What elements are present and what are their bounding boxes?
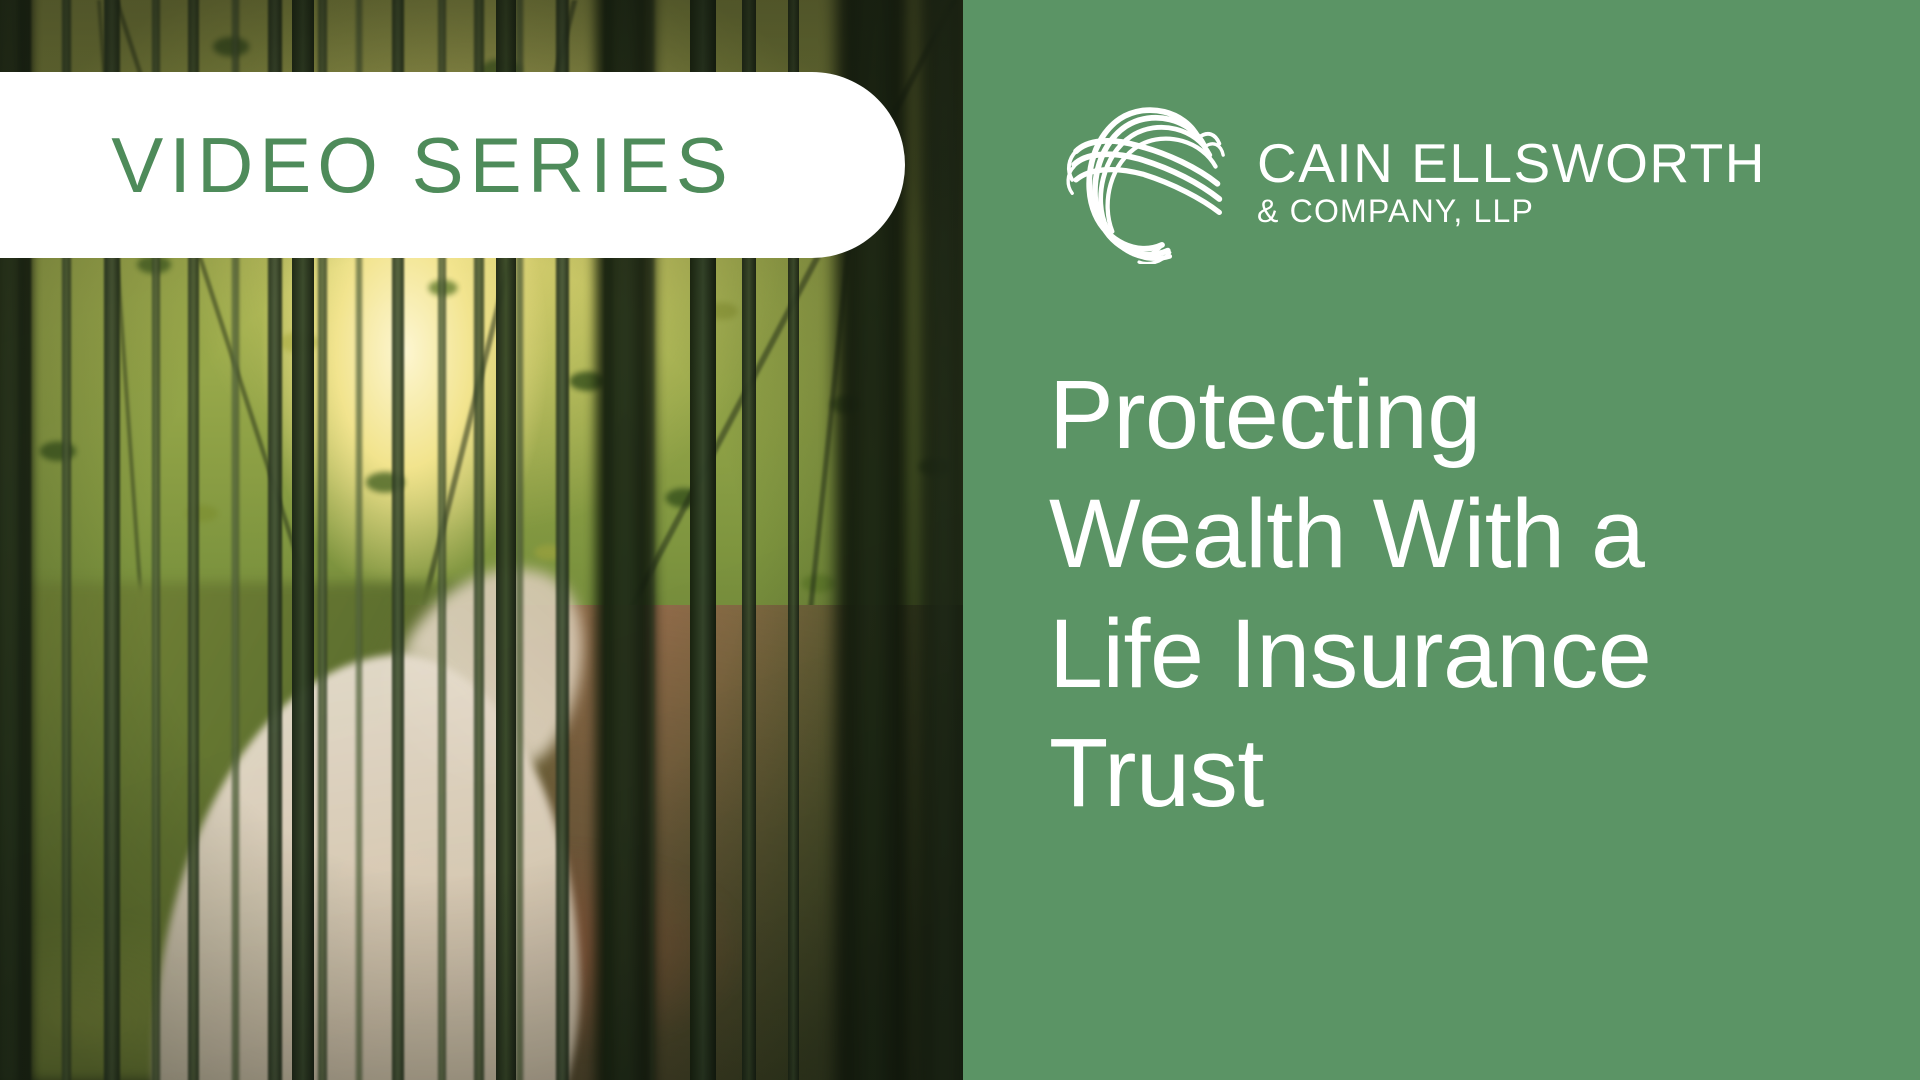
headline-line-3: Life Insurance bbox=[1049, 594, 1889, 713]
brand-wordmark: CAIN ELLSWORTH & COMPANY, LLP bbox=[1257, 130, 1766, 227]
brand-logo-lockup: CAIN ELLSWORTH & COMPANY, LLP bbox=[1055, 92, 1766, 264]
brand-name: CAIN ELLSWORTH bbox=[1257, 136, 1766, 191]
video-series-thumbnail: VIDEO SERIES bbox=[0, 0, 1920, 1080]
headline-line-2: Wealth With a bbox=[1049, 474, 1889, 593]
headline-line-4: Trust bbox=[1049, 713, 1889, 832]
brand-suffix: & COMPANY, LLP bbox=[1257, 195, 1766, 227]
video-series-label: VIDEO SERIES bbox=[111, 126, 794, 204]
video-series-badge: VIDEO SERIES bbox=[0, 72, 905, 258]
woven-c-monogram-icon bbox=[1055, 92, 1227, 264]
forest-photo-panel: VIDEO SERIES bbox=[0, 0, 963, 1080]
headline: Protecting Wealth With a Life Insurance … bbox=[1049, 355, 1889, 832]
headline-line-1: Protecting bbox=[1049, 355, 1889, 474]
content-panel: CAIN ELLSWORTH & COMPANY, LLP Protecting… bbox=[963, 0, 1920, 1080]
